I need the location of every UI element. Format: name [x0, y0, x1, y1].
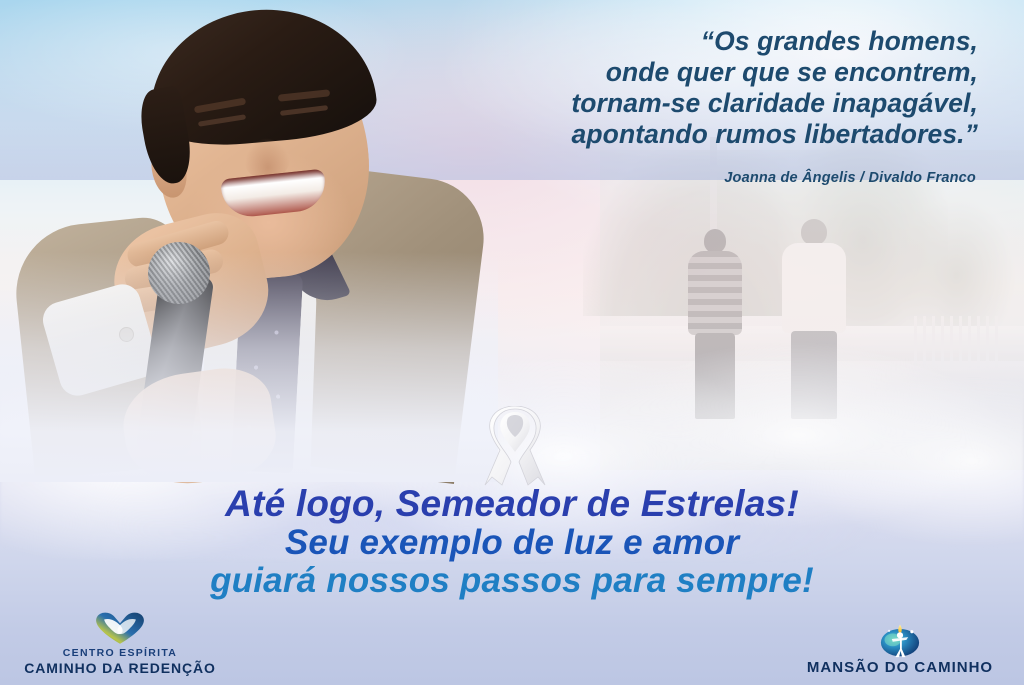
globe-figure-flame-icon	[790, 619, 1010, 659]
quote-line-1: “Os grandes homens,	[418, 26, 978, 57]
memorial-poster: “Os grandes homens, onde quer que se enc…	[0, 0, 1024, 685]
headline-line-3: guiará nossos passos para sempre!	[0, 562, 1024, 600]
logo-centro-espirita: CENTRO ESPÍRITA CAMINHO DA REDENÇÃO	[10, 607, 230, 677]
logo-right-line-1: MANSÃO DO CAMINHO	[790, 659, 1010, 677]
quote-line-2: onde quer que se encontrem,	[418, 57, 978, 88]
headline-line-2: Seu exemplo de luz e amor	[0, 524, 1024, 562]
logo-left-line-1: CENTRO ESPÍRITA	[10, 647, 230, 660]
quote-line-3: tornam-se claridade inapagável,	[418, 88, 978, 119]
portrait-divaldo-franco	[8, 0, 478, 472]
quote-line-4: apontando rumos libertadores.”	[418, 119, 978, 150]
logo-left-line-2: CAMINHO DA REDENÇÃO	[10, 660, 230, 677]
hands-heart-icon	[10, 607, 230, 647]
white-ribbon-icon	[478, 406, 552, 488]
quote-block: “Os grandes homens, onde quer que se enc…	[418, 26, 978, 150]
headline-line-1: Até logo, Semeador de Estrelas!	[0, 484, 1024, 524]
logo-mansao-do-caminho: MANSÃO DO CAMINHO	[790, 619, 1010, 677]
headline-block: Até logo, Semeador de Estrelas! Seu exem…	[0, 484, 1024, 600]
quote-attribution: Joanna de Ângelis / Divaldo Franco	[724, 170, 976, 186]
